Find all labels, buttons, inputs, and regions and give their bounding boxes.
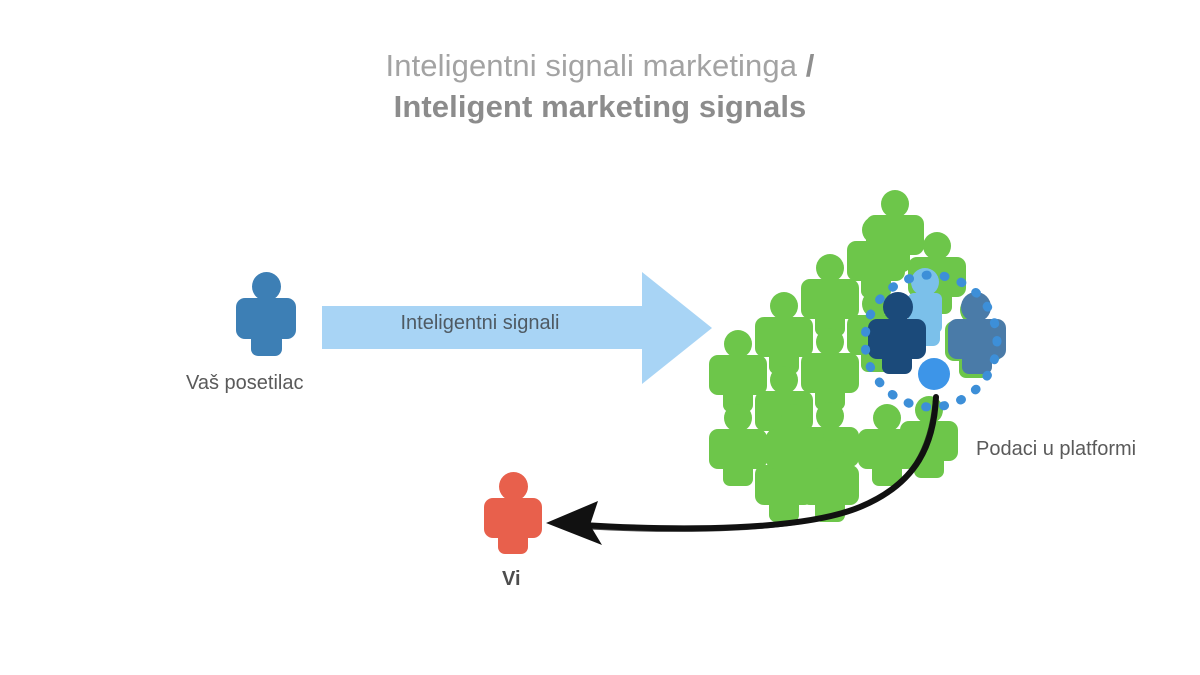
crowd-head — [816, 254, 844, 282]
crowd-person-green — [801, 254, 859, 336]
slide-canvas: Inteligentni signali marketinga / Inteli… — [0, 0, 1200, 675]
hand-arrow-stroke-texture — [584, 401, 934, 531]
crowd-head — [816, 328, 844, 356]
visitor-person-icon — [236, 272, 296, 356]
crowd-head — [770, 292, 798, 320]
crowd-body — [866, 215, 924, 255]
you-head — [499, 472, 528, 501]
visitor-label: Vaš posetilac — [186, 372, 303, 395]
crowd-head — [881, 190, 909, 218]
crowd-head — [724, 330, 752, 358]
signal-arrow-label: Inteligentni signali — [330, 312, 630, 335]
visitor-head — [252, 272, 281, 301]
highlight-dotted-circle — [858, 268, 1004, 414]
crowd-legs — [815, 310, 845, 336]
title-separator-slash: / — [806, 48, 815, 83]
title-line-primary: Inteligentni signali marketinga / — [0, 48, 1200, 85]
page-title: Inteligentni signali marketinga / Inteli… — [0, 48, 1200, 125]
crowd-person-green — [866, 190, 924, 272]
crowd-person-green — [755, 292, 813, 374]
crowd-legs — [769, 348, 799, 374]
crowd-head — [862, 216, 890, 244]
you-legs — [498, 529, 528, 554]
title-line-secondary: Inteligent marketing signals — [0, 89, 1200, 126]
title-line-primary-text: Inteligentni signali marketinga — [386, 48, 806, 83]
crowd-head — [923, 232, 951, 260]
visitor-legs — [251, 330, 282, 356]
crowd-body — [801, 279, 859, 319]
platform-data-label: Podaci u platformi — [976, 438, 1136, 461]
crowd-body — [755, 317, 813, 357]
visitor-body — [236, 298, 296, 339]
hand-arrow-stroke — [582, 397, 936, 528]
you-label: Vi — [502, 568, 521, 591]
dotted-circle-path — [865, 275, 997, 407]
